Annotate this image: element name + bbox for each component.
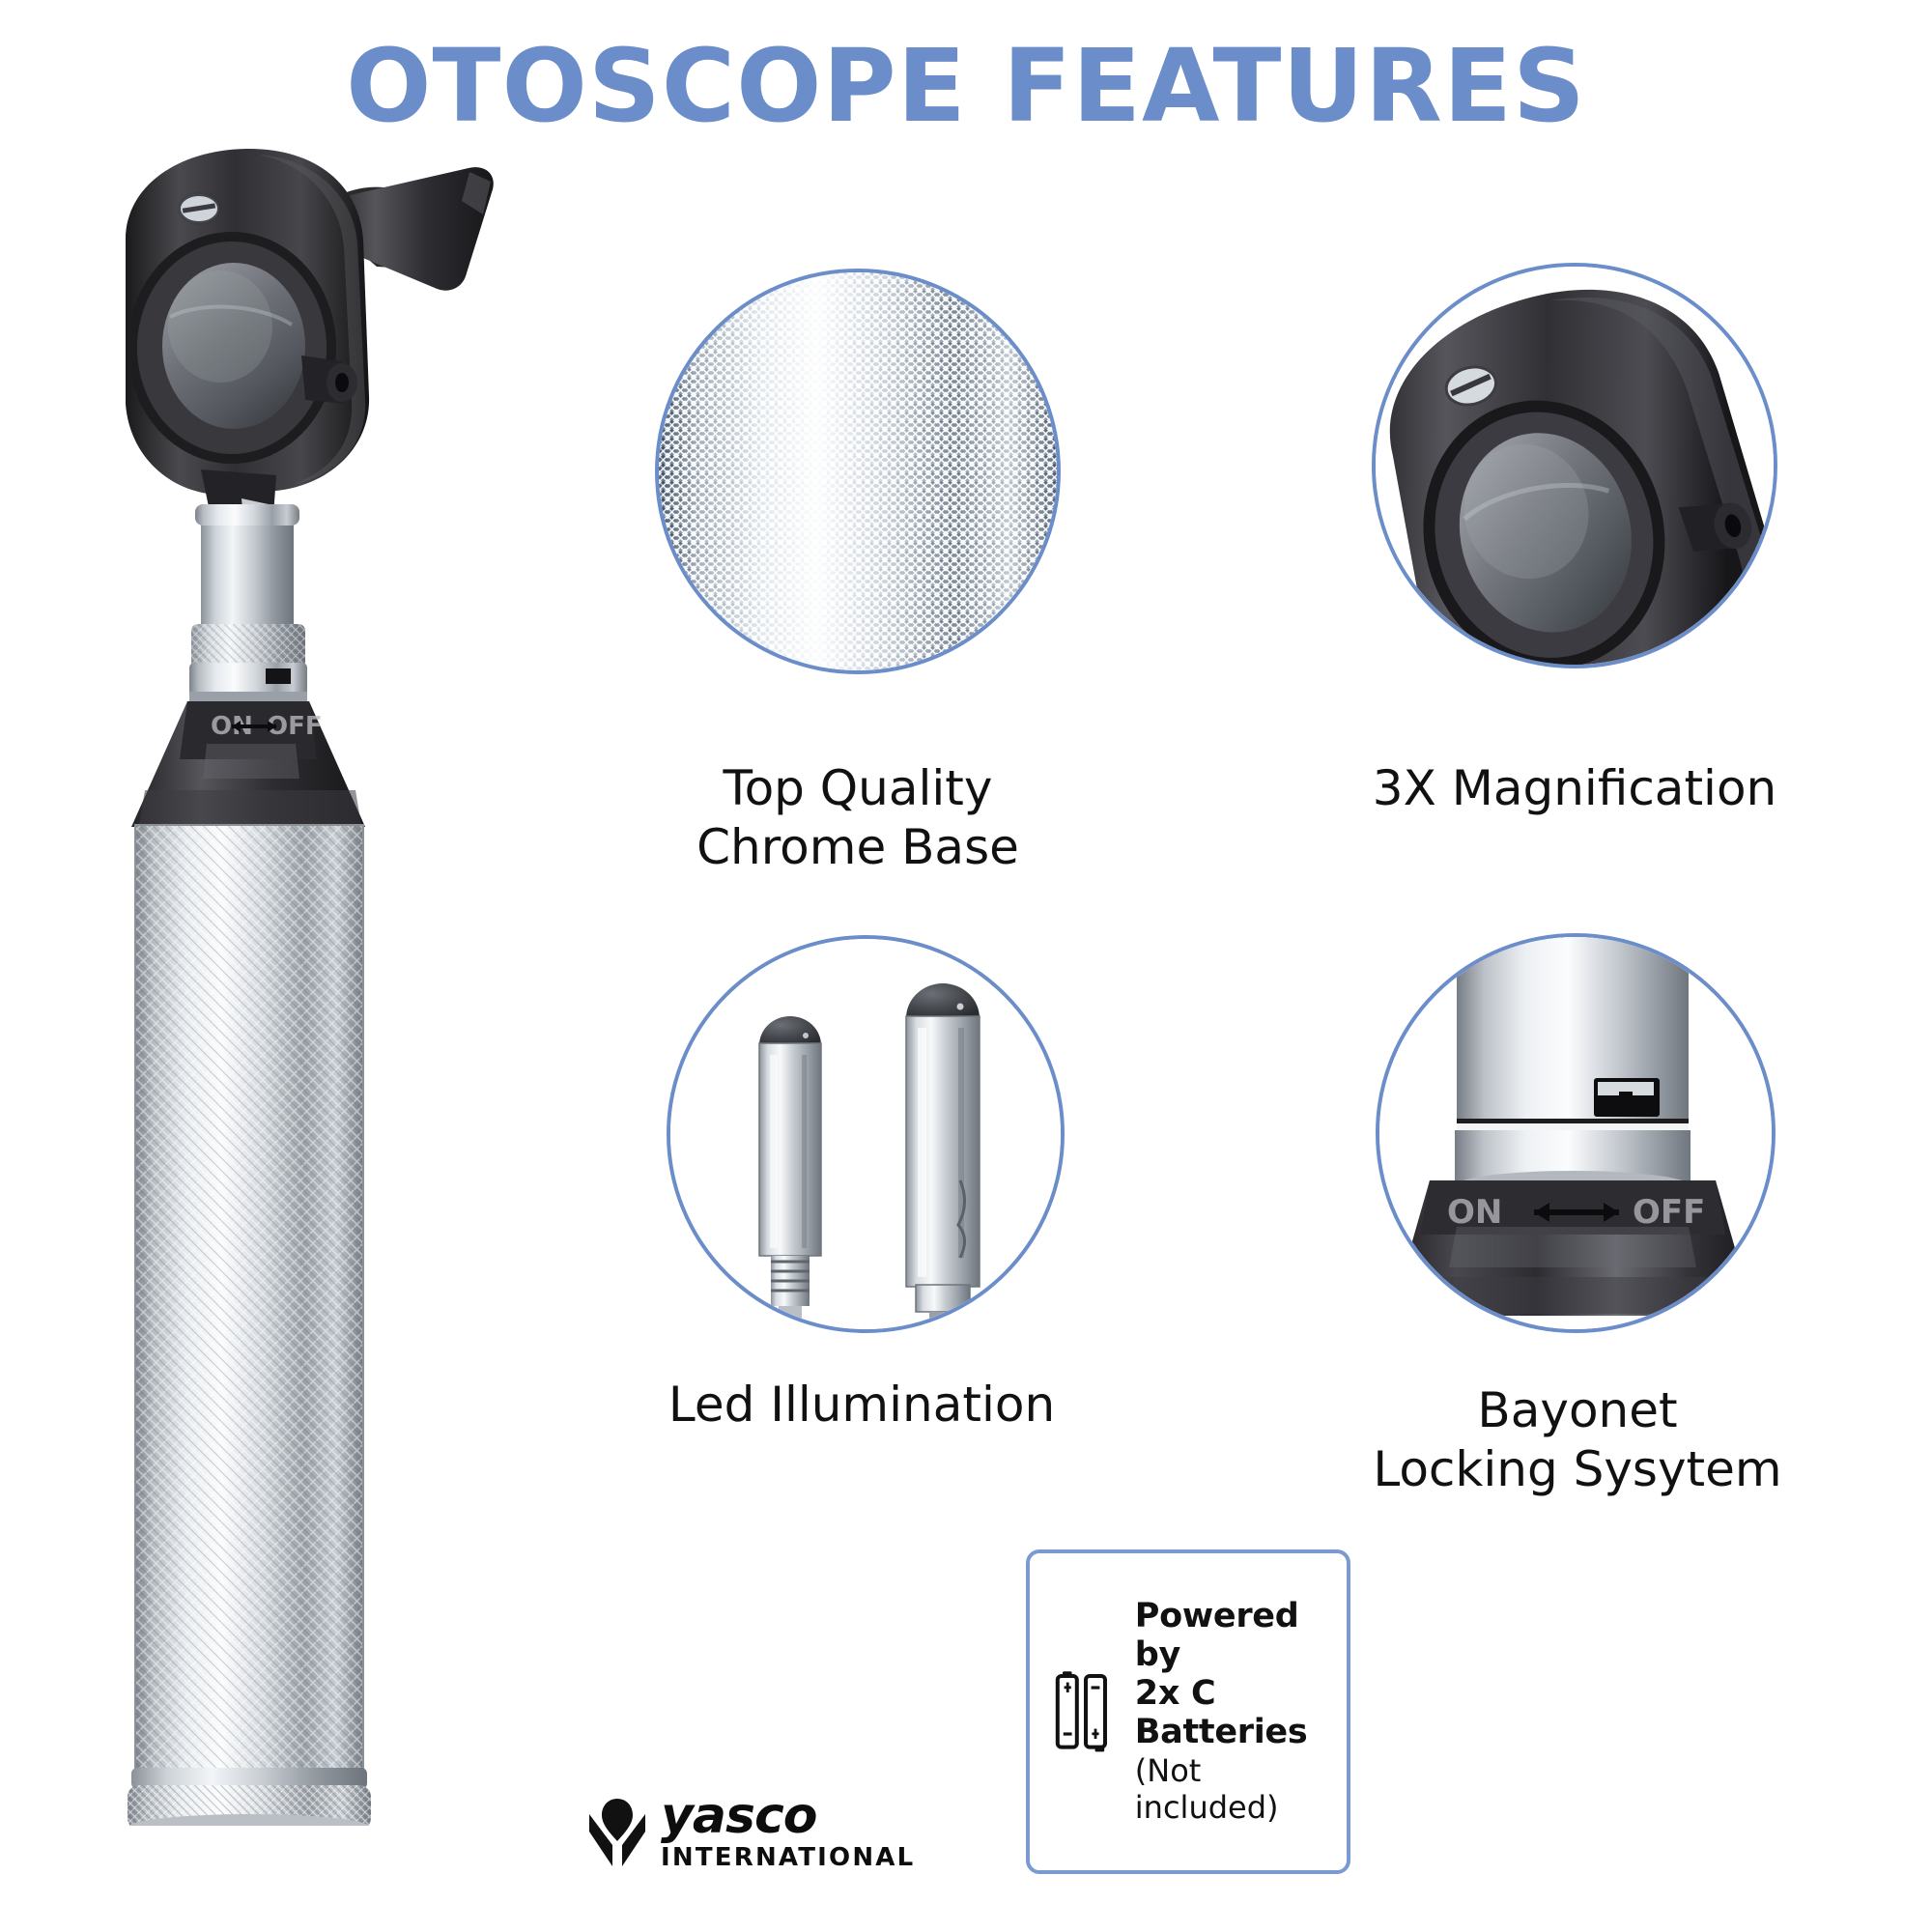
product-otoscope-illustration: ON OFF <box>87 126 628 1826</box>
led-bulbs-svg <box>670 939 1061 1329</box>
battery-line-2: 2x C Batteries <box>1135 1675 1347 1752</box>
feature-label-led-illumination: Led Illumination <box>553 1376 1171 1435</box>
bayonet-switch-off-label: OFF <box>1633 1193 1705 1232</box>
battery-text-block: Powered by 2x C Batteries (Not included) <box>1135 1598 1347 1826</box>
logo-name: yasco <box>661 1793 915 1841</box>
chrome-neck <box>189 504 307 703</box>
battery-info-inner: Powered by 2x C Batteries (Not included) <box>1055 1598 1347 1826</box>
feature-label-chrome-base: Top Quality Chrome Base <box>549 759 1167 877</box>
otoscope-head <box>126 149 369 529</box>
two-c-batteries-icon <box>1055 1659 1114 1765</box>
led-bulbs-image <box>667 935 1065 1333</box>
on-off-collar: ON OFF <box>131 701 365 827</box>
battery-line-3: (Not included) <box>1135 1751 1347 1826</box>
infographic-canvas: OTOSCOPE FEATURES <box>0 0 1932 1932</box>
lens-head-closeup-image <box>1372 263 1777 668</box>
bayonet-svg: ON OFF <box>1379 937 1772 1329</box>
chrome-handle-body <box>128 825 371 1826</box>
chrome-base-closeup-image <box>655 269 1061 674</box>
knurled-texture <box>659 272 1057 670</box>
logo-wordmark: yasco INTERNATIONAL <box>661 1793 915 1872</box>
battery-info-box: Powered by 2x C Batteries (Not included) <box>1026 1549 1350 1874</box>
feature-label-3x-magnification: 3X Magnification <box>1275 759 1874 818</box>
bayonet-collar-image: ON OFF <box>1376 933 1776 1333</box>
bayonet-switch-on-label: ON <box>1447 1193 1502 1232</box>
feature-label-bayonet: Bayonet Locking Sysytem <box>1273 1381 1882 1499</box>
bayonet-slot <box>1594 1078 1660 1117</box>
otoscope-svg: ON OFF <box>87 126 628 1826</box>
brand-logo: yasco INTERNATIONAL <box>587 1793 915 1872</box>
battery-line-1: Powered by <box>1135 1598 1347 1675</box>
yasco-tulip-mark-icon <box>587 1795 647 1870</box>
led-bulb-large <box>906 983 980 1323</box>
logo-subtitle: INTERNATIONAL <box>661 1843 915 1872</box>
lens-head-svg <box>1376 267 1774 665</box>
